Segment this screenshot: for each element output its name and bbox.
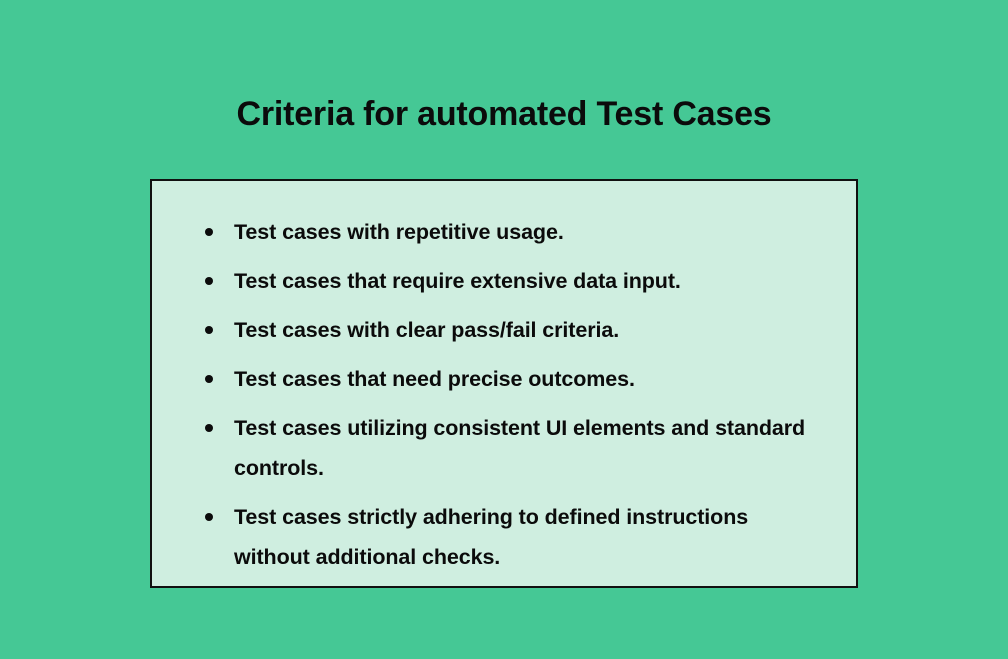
list-item: Test cases utilizing consistent UI eleme… xyxy=(202,408,816,488)
list-item-label: Test cases utilizing consistent UI eleme… xyxy=(234,416,805,480)
list-item-label: Test cases that need precise outcomes. xyxy=(234,367,635,391)
bullet-dot-icon xyxy=(205,375,213,383)
bullet-dot-icon xyxy=(205,277,213,285)
slide-canvas: Criteria for automated Test Cases Test c… xyxy=(0,0,1008,659)
list-item-label: Test cases with repetitive usage. xyxy=(234,220,564,244)
bullet-dot-icon xyxy=(205,326,213,334)
bullet-dot-icon xyxy=(205,228,213,236)
list-item: Test cases strictly adhering to defined … xyxy=(202,497,816,577)
list-item: Test cases that need precise outcomes. xyxy=(202,359,816,399)
bullet-dot-icon xyxy=(205,513,213,521)
list-item: Test cases with clear pass/fail criteria… xyxy=(202,310,816,350)
bullet-dot-icon xyxy=(205,424,213,432)
list-item-label: Test cases strictly adhering to defined … xyxy=(234,505,748,569)
list-item-label: Test cases that require extensive data i… xyxy=(234,269,681,293)
criteria-card: Test cases with repetitive usage. Test c… xyxy=(150,179,858,588)
page-title: Criteria for automated Test Cases xyxy=(0,92,1008,136)
list-item: Test cases with repetitive usage. xyxy=(202,212,816,252)
list-item: Test cases that require extensive data i… xyxy=(202,261,816,301)
criteria-list: Test cases with repetitive usage. Test c… xyxy=(152,181,856,577)
list-item-label: Test cases with clear pass/fail criteria… xyxy=(234,318,619,342)
